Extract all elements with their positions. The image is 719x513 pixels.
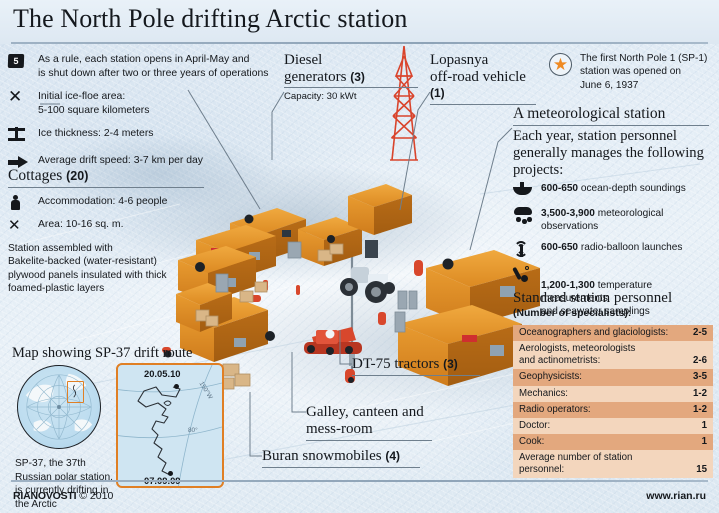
cottage-area-text: Area: 10-16 sq. m. xyxy=(38,217,123,235)
cottage-accommodation: Accommodation: 4-6 people xyxy=(8,194,208,212)
table-row: Aerologists, meteorologists and actinome… xyxy=(513,341,713,369)
project-meteo-observations: 3,500-3,900 meteorological observations xyxy=(513,207,719,233)
meteo-divider xyxy=(513,125,709,126)
project-radio-balloons: 600-650 radio-balloon launches xyxy=(513,241,719,258)
cottages-heading: Cottages (20) xyxy=(8,168,208,185)
footer-brand: RIANOVOSTI © 2010 xyxy=(13,490,113,502)
page-header: The North Pole drifting Arctic station xyxy=(0,0,719,44)
globe-inset xyxy=(17,365,101,449)
meteo-lead: Each year, station personnel generally m… xyxy=(513,128,713,179)
drift-route-map: 20.05.10 07.09.09 150°W 80° xyxy=(116,363,224,488)
radio-balloon-icon xyxy=(513,241,533,258)
table-row: Geophysicists:3-5 xyxy=(513,369,713,385)
thickness-icon xyxy=(8,126,30,144)
fact-ice-floe-area: ✕ Initial ice-floe area: 5-100 square ki… xyxy=(8,89,270,117)
fact-ice-floe-area-text: Initial ice-floe area: 5-100 square kilo… xyxy=(38,89,149,117)
callout-lopasnya: Lopasnya off-road vehicle (1) xyxy=(430,52,538,105)
drift-map-section: Map showing SP-37 drift route SP-37, the… xyxy=(12,345,227,362)
ocean-sounding-icon xyxy=(513,182,533,199)
map-title: Map showing SP-37 drift route xyxy=(12,345,227,362)
route-start-dot xyxy=(174,384,179,389)
table-row: Oceanographers and glaciologists:2-5 xyxy=(513,325,713,341)
first-station-text: The first North Pole 1 (SP-1) station wa… xyxy=(580,52,707,92)
cottages-section: Cottages (20) Accommodation: 4-6 people … xyxy=(8,168,208,296)
route-start-label: 20.05.10 xyxy=(144,368,181,379)
callout-lopasnya-title: Lopasnya off-road vehicle (1) xyxy=(430,52,538,102)
globe-graticule xyxy=(18,366,100,448)
callout-diesel-sub: Capacity: 30 kWt xyxy=(284,91,420,102)
callout-galley-divider xyxy=(306,440,432,441)
cottages-title: Cottages xyxy=(8,167,62,184)
calendar-5-icon: 5 xyxy=(8,52,30,70)
project-ocean-soundings-text: 600-650 ocean-depth soundings xyxy=(541,182,686,196)
callout-dt75-title: DT-75 tractors (3) xyxy=(352,356,480,373)
facts-list: 5 As a rule, each station opens in April… xyxy=(8,52,270,180)
cloud-icon xyxy=(513,207,533,224)
footer-divider xyxy=(11,480,708,482)
area-cross-icon: ✕ xyxy=(8,89,30,107)
table-row: Radio operators:1-2 xyxy=(513,402,713,418)
fact-season-text: As a rule, each station opens in April-M… xyxy=(38,52,268,80)
copyright: © 2010 xyxy=(79,490,113,502)
header-divider xyxy=(11,42,708,44)
callout-buran-title: Buran snowmobiles (4) xyxy=(262,448,420,465)
personnel-subtitle: (Number of specialists): xyxy=(513,308,631,319)
callout-dt75: DT-75 tractors (3) xyxy=(352,356,480,376)
table-row: Doctor:1 xyxy=(513,418,713,434)
callout-dt75-divider xyxy=(352,375,480,376)
project-radio-balloons-text: 600-650 radio-balloon launches xyxy=(541,241,682,255)
personnel-table: Oceanographers and glaciologists:2-5 Aer… xyxy=(513,325,713,478)
first-station-note: ★ The first North Pole 1 (SP-1) station … xyxy=(549,52,717,92)
cottages-divider xyxy=(8,187,204,188)
table-row: Average number of station personnel:15 xyxy=(513,450,713,478)
cottage-area: ✕ Area: 10-16 sq. m. xyxy=(8,217,208,235)
fact-season: 5 As a rule, each station opens in April… xyxy=(8,52,270,80)
callout-diesel-divider xyxy=(284,87,418,88)
callout-buran-divider xyxy=(262,467,420,468)
parallel-label: 80° xyxy=(188,427,198,434)
cottage-accommodation-text: Accommodation: 4-6 people xyxy=(38,194,167,212)
drift-route-graphic xyxy=(118,365,222,486)
callout-diesel-title: Diesel generators (3) xyxy=(284,52,420,85)
personnel-title: Standard station personnel xyxy=(513,290,672,307)
brand-name: RIANOVOSTI xyxy=(13,490,76,502)
callout-galley-title: Galley, canteen and mess-room xyxy=(306,404,434,437)
fact-ice-thickness-text: Ice thickness: 2-4 meters xyxy=(38,126,154,144)
table-row: Mechanics:1-2 xyxy=(513,386,713,402)
callout-buran: Buran snowmobiles (4) xyxy=(262,448,420,468)
callout-galley: Galley, canteen and mess-room xyxy=(306,404,434,441)
cottages-count: (20) xyxy=(66,169,88,183)
cottages-construction-note: Station assembled with Bakelite-backed (… xyxy=(8,242,173,296)
project-ocean-soundings: 600-650 ocean-depth soundings xyxy=(513,182,719,199)
globe-region-box xyxy=(67,381,84,403)
meteo-title: A meteorological station xyxy=(513,105,665,123)
person-icon xyxy=(8,194,30,212)
area-cross-icon: ✕ xyxy=(8,217,30,235)
star-icon: ★ xyxy=(549,53,572,76)
footer-url[interactable]: www.rian.ru xyxy=(646,490,706,502)
map-caption: SP-37, the 37th Russian polar station, i… xyxy=(15,457,121,512)
page-title: The North Pole drifting Arctic station xyxy=(13,4,407,34)
fact-ice-thickness: Ice thickness: 2-4 meters xyxy=(8,126,270,144)
callout-diesel-generators: Diesel generators (3) Capacity: 30 kWt xyxy=(284,52,420,102)
table-row: Cook:1 xyxy=(513,434,713,450)
project-meteo-observations-text: 3,500-3,900 meteorological observations xyxy=(541,207,719,233)
thermometer-icon xyxy=(513,266,533,283)
